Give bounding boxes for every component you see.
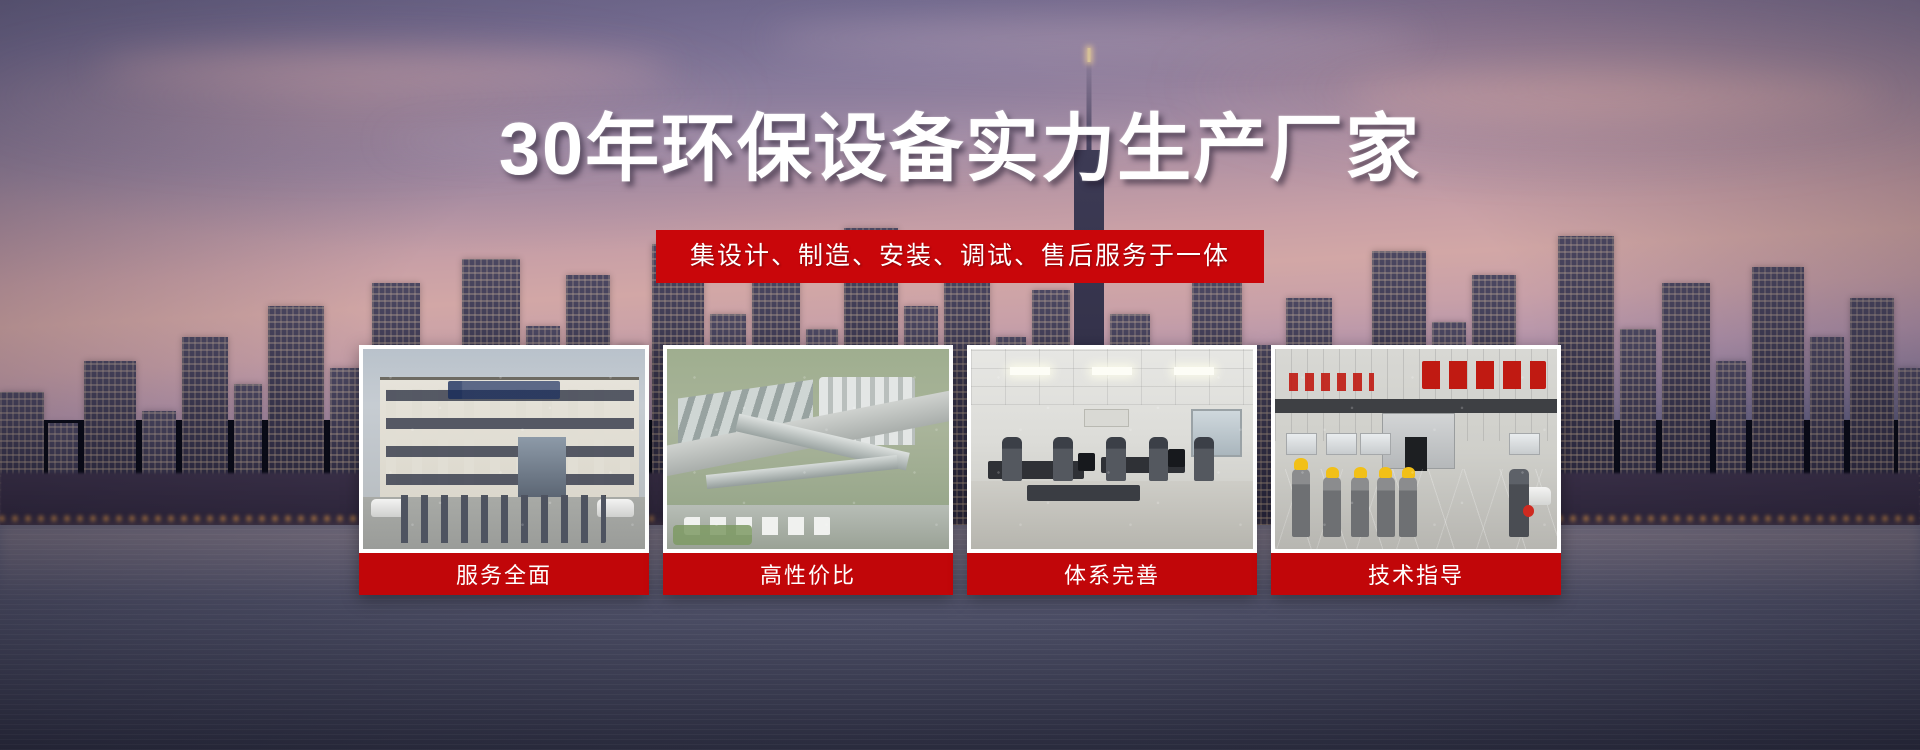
card-caption: 技术指导	[1271, 553, 1561, 595]
feature-card[interactable]: 技术指导	[1271, 345, 1561, 595]
feature-card[interactable]: 高性价比	[663, 345, 953, 595]
banner-subtitle-text: 集设计、制造、安装、调试、售后服务于一体	[690, 241, 1230, 272]
photo-watermark	[363, 349, 645, 549]
card-photo-office-interior-workstations	[971, 349, 1253, 549]
photo-watermark	[1275, 349, 1557, 549]
banner-headline: 30年环保设备实力生产厂家	[0, 112, 1920, 186]
card-caption: 体系完善	[967, 553, 1257, 595]
banner-content: 30年环保设备实力生产厂家 集设计、制造、安装、调试、售后服务于一体	[0, 0, 1920, 750]
photo-watermark	[971, 349, 1253, 549]
card-caption: 服务全面	[359, 553, 649, 595]
feature-card-list: 服务全面 高性价比	[359, 345, 1561, 595]
card-photo-factory-yard-workers-briefing	[1275, 349, 1557, 549]
banner-subtitle-bar: 集设计、制造、安装、调试、售后服务于一体	[656, 230, 1264, 283]
card-photo-industrial-plant-aerial-view	[667, 349, 949, 549]
card-caption: 高性价比	[663, 553, 953, 595]
photo-watermark	[667, 349, 949, 549]
hero-banner: 30年环保设备实力生产厂家 集设计、制造、安装、调试、售后服务于一体	[0, 0, 1920, 750]
feature-card[interactable]: 服务全面	[359, 345, 649, 595]
card-photo-company-office-building-with-staff	[363, 349, 645, 549]
feature-card[interactable]: 体系完善	[967, 345, 1257, 595]
